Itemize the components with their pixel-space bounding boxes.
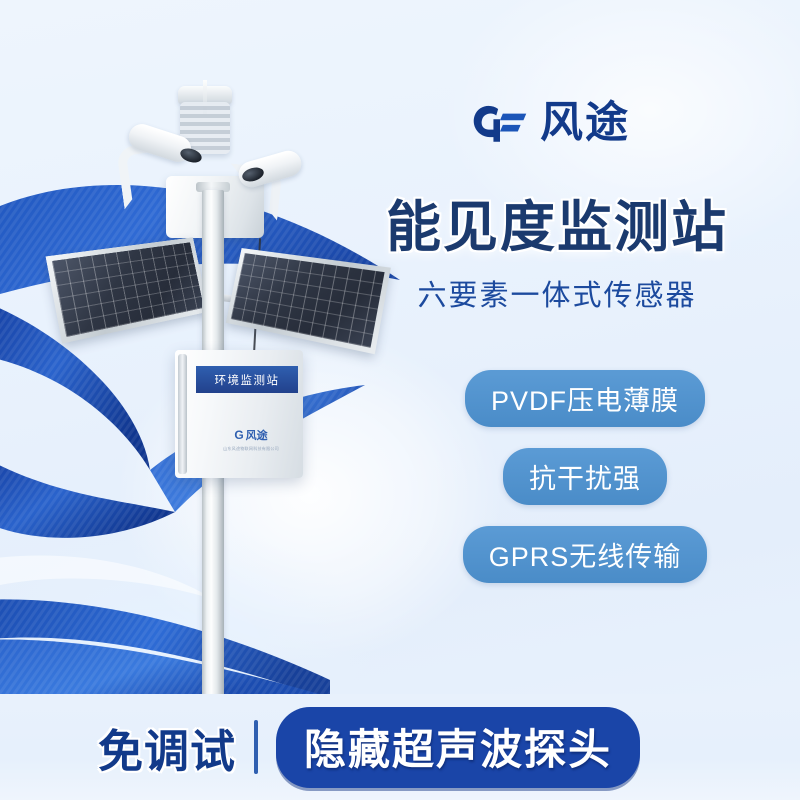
feature-pill-gprs: GPRS无线传输 bbox=[463, 526, 708, 583]
enclosure-company-name: 山东风途物联网科技有限公司 bbox=[207, 446, 295, 452]
enclosure-label-text: 环境监测站 bbox=[215, 372, 280, 388]
product-image: 环境监测站 G风途 山东风途物联网科技有限公司 bbox=[20, 70, 420, 710]
enclosure-label-band: 环境监测站 bbox=[196, 366, 298, 393]
brand-lockup: 风途 bbox=[470, 100, 630, 146]
feature-pill-anti-interference: 抗干扰强 bbox=[503, 448, 667, 505]
bottom-badge-label: 隐藏超声波探头 bbox=[304, 726, 612, 773]
bottom-divider bbox=[254, 720, 258, 774]
enclosure-logo-g-icon: G bbox=[234, 428, 243, 442]
solar-panel-left bbox=[46, 237, 209, 343]
feature-pill-pvdf: PVDF压电薄膜 bbox=[465, 370, 705, 427]
bottom-banner: 免调试 隐藏超声波探头 bbox=[0, 694, 800, 800]
bottom-left-label: 免调试 bbox=[98, 715, 236, 780]
feature-pill-list: PVDF压电薄膜 抗干扰强 GPRS无线传输 bbox=[440, 370, 730, 583]
enclosure-brand-logo: G风途 山东风途物联网科技有限公司 bbox=[206, 426, 296, 452]
enclosure-hinge bbox=[178, 354, 187, 474]
brand-name: 风途 bbox=[540, 102, 630, 145]
product-poster: 环境监测站 G风途 山东风途物联网科技有限公司 风途 能见度监测站 六要素一体式… bbox=[0, 0, 800, 800]
page-title: 能见度监测站 bbox=[352, 182, 762, 262]
fengtu-g-logo-icon bbox=[470, 100, 530, 146]
bottom-badge: 隐藏超声波探头 bbox=[276, 707, 640, 788]
enclosure-logo-name: 风途 bbox=[246, 427, 268, 443]
page-subtitle: 六要素一体式传感器 bbox=[352, 272, 762, 314]
